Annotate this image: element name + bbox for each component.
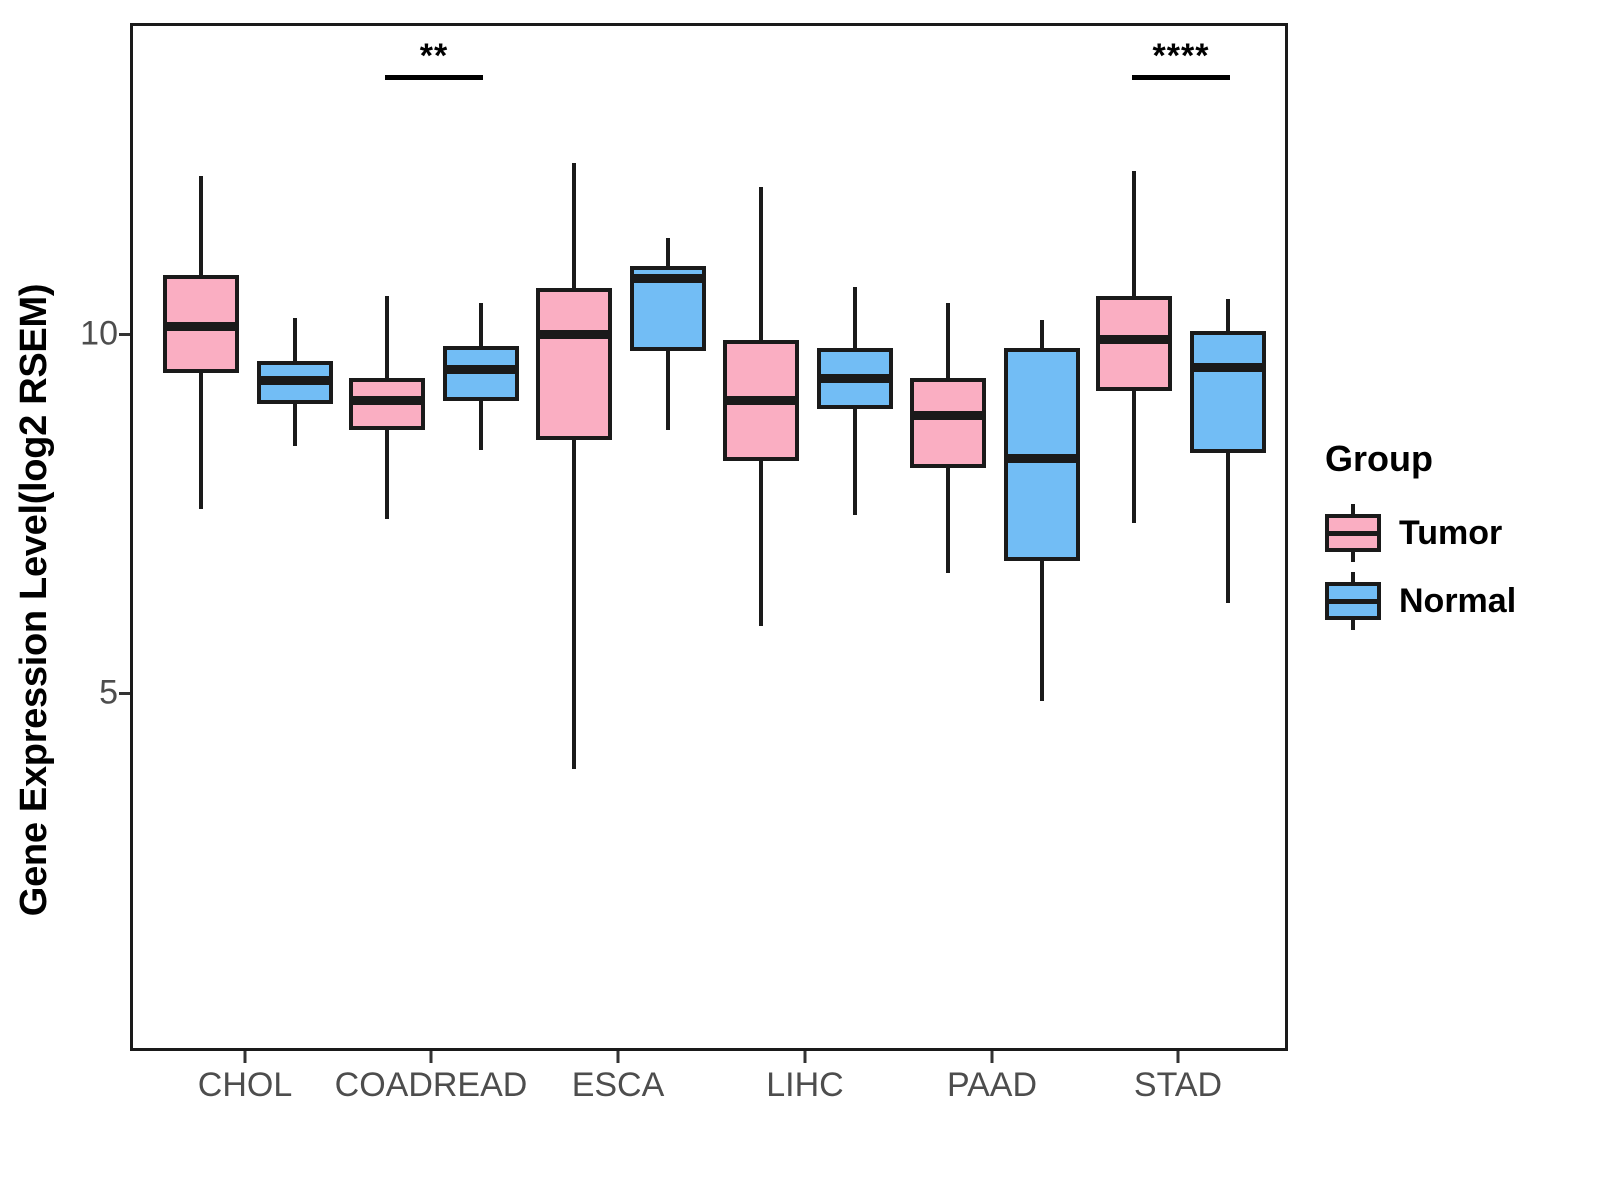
boxplot-box[interactable] <box>1190 331 1266 454</box>
boxplot-median-line <box>443 365 519 374</box>
boxplot-median-line <box>1190 363 1266 372</box>
boxplot-median-line <box>817 374 893 383</box>
boxplot-median-line <box>349 396 425 405</box>
boxplot-box[interactable] <box>910 378 986 468</box>
boxplot-median-line <box>723 396 799 405</box>
x-axis-tick-mark <box>244 1051 247 1063</box>
significance-label: **** <box>1153 37 1210 76</box>
boxplot-median-line <box>163 322 239 331</box>
significance-label: ** <box>420 37 448 76</box>
legend-title: Group <box>1325 438 1575 480</box>
x-axis-tick-mark <box>617 1051 620 1063</box>
legend-label: Normal <box>1399 582 1516 621</box>
legend: Group TumorNormal <box>1325 438 1575 638</box>
y-axis-tick-mark <box>119 333 130 336</box>
x-axis-tick-label-esca: ESCA <box>572 1066 665 1105</box>
boxplot-box[interactable] <box>536 288 612 440</box>
x-axis-tick-mark <box>430 1051 433 1063</box>
legend-item-normal[interactable]: Normal <box>1325 570 1575 632</box>
legend-key-tumor <box>1325 502 1381 564</box>
y-axis-tick-label: 5 <box>99 674 118 713</box>
legend-item-tumor[interactable]: Tumor <box>1325 502 1575 564</box>
legend-key-median <box>1325 599 1381 604</box>
legend-rows: TumorNormal <box>1325 502 1575 632</box>
x-axis-tick-mark <box>1177 1051 1180 1063</box>
boxplot-median-line <box>536 330 612 339</box>
legend-key-normal <box>1325 570 1381 632</box>
legend-key-median <box>1325 531 1381 536</box>
boxplot-median-line <box>910 411 986 420</box>
x-axis-tick-label-paad: PAAD <box>947 1066 1037 1105</box>
x-axis-tick-label-stad: STAD <box>1134 1066 1222 1105</box>
boxplot-median-line <box>1096 335 1172 344</box>
boxplot-median-line <box>257 376 333 385</box>
boxplot-median-line <box>630 274 706 283</box>
y-axis-title: Gene Expression Level(log2 RSEM) <box>6 0 62 1200</box>
plot-panel: ****** <box>130 23 1288 1051</box>
chart-root: Gene Expression Level(log2 RSEM) 510 ***… <box>0 0 1600 1200</box>
y-axis-tick-labels: 510 <box>60 0 118 1200</box>
legend-label: Tumor <box>1399 514 1502 553</box>
boxplot-whisker <box>572 163 576 769</box>
x-axis-tick-mark <box>991 1051 994 1063</box>
x-axis-tick-label-coadread: COADREAD <box>335 1066 528 1105</box>
y-axis-tick-label: 10 <box>80 315 118 354</box>
x-axis-tick-mark <box>804 1051 807 1063</box>
y-axis-tick-mark <box>119 692 130 695</box>
boxplot-median-line <box>1004 454 1080 463</box>
x-axis-tick-label-lihc: LIHC <box>766 1066 843 1105</box>
x-axis-tick-label-chol: CHOL <box>198 1066 292 1105</box>
